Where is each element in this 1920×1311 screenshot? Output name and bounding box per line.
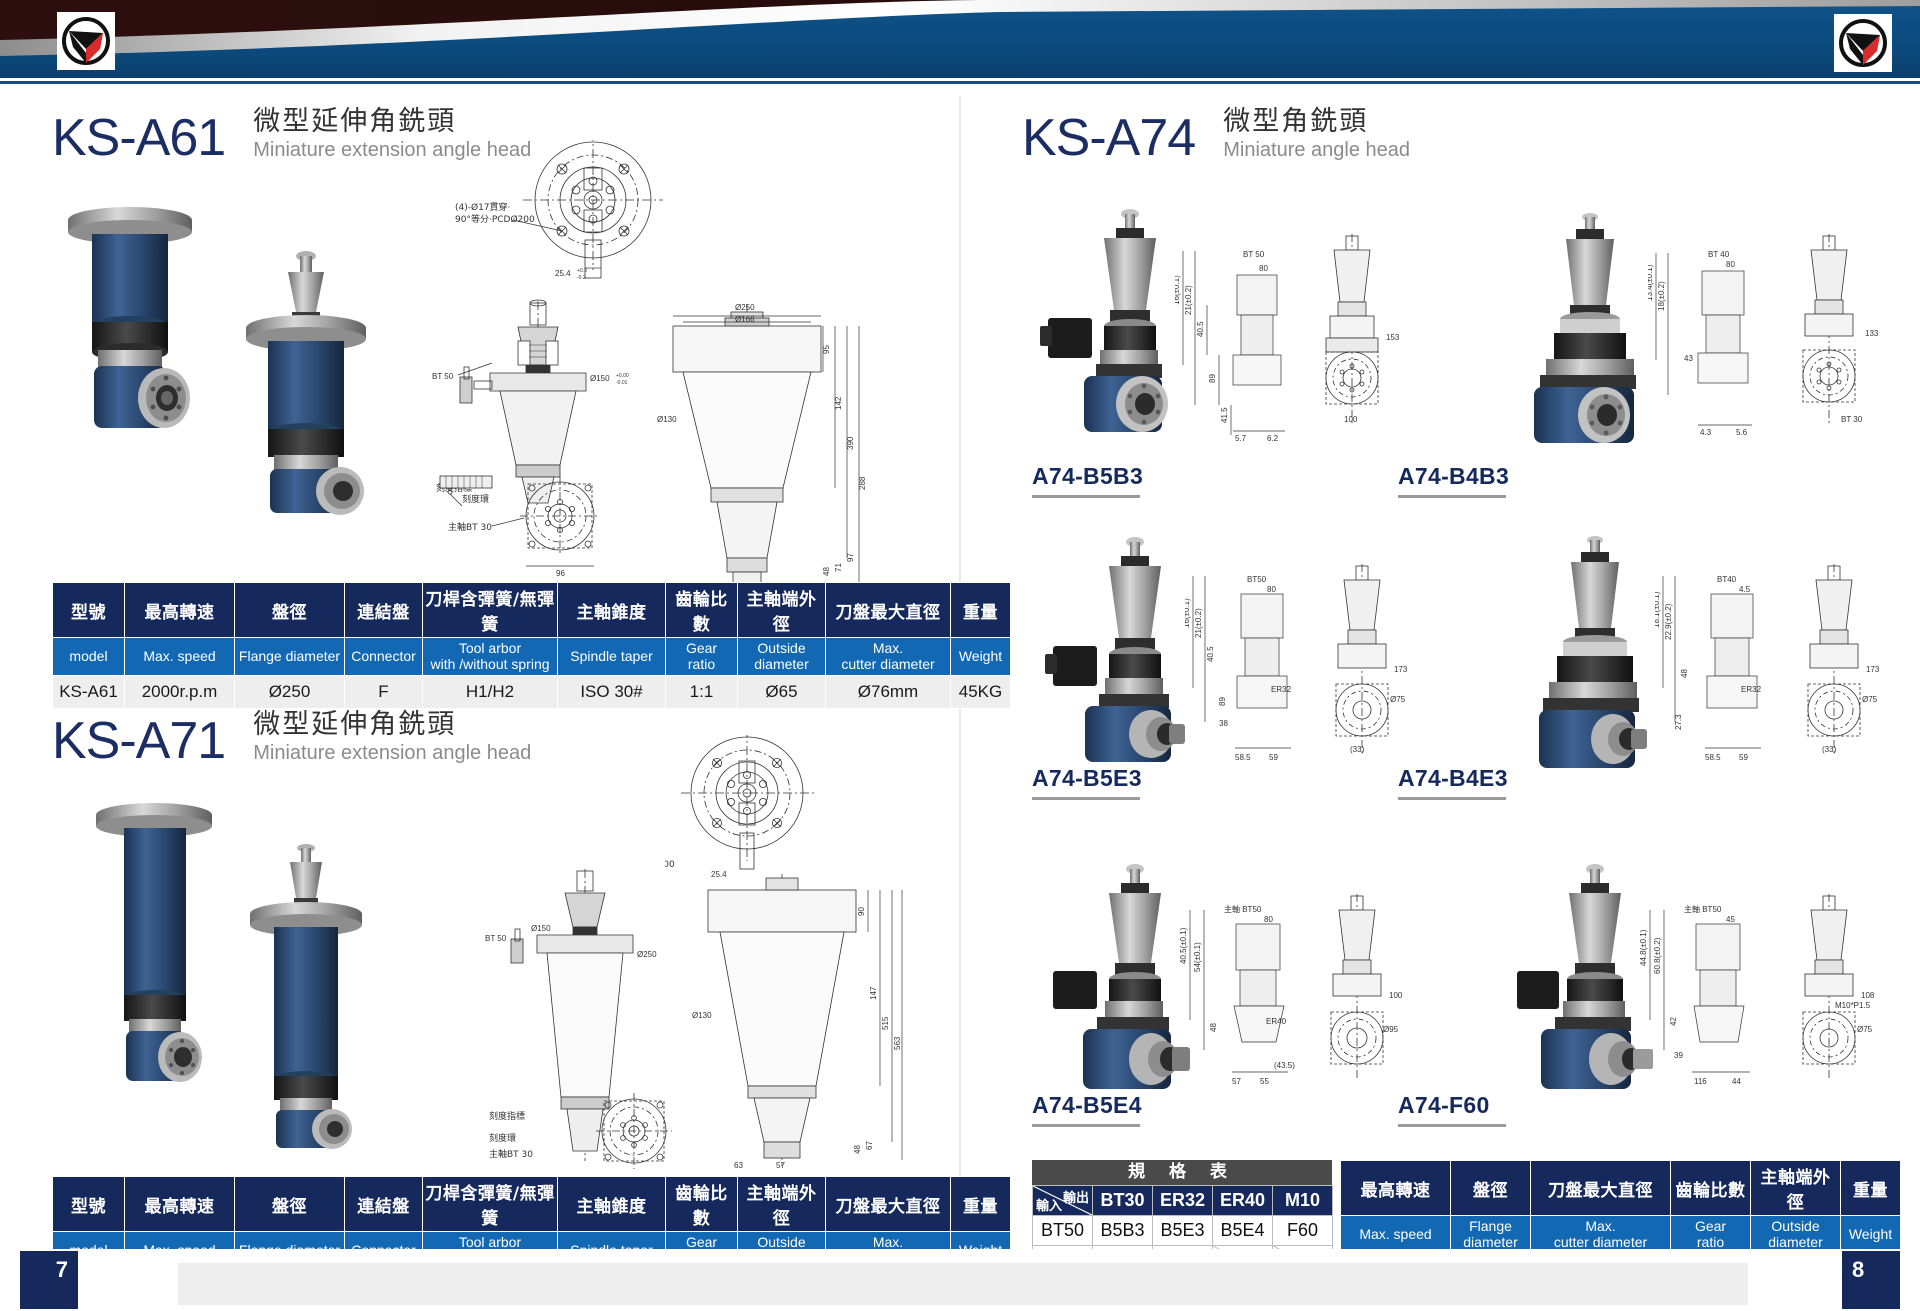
table-row: KS-A612000r.p.mØ250FH1/H2ISO 30#1:1Ø65Ø7… — [53, 676, 1011, 709]
svg-text:Ø250: Ø250 — [637, 950, 657, 959]
svg-text:Ø95: Ø95 — [1383, 1025, 1399, 1034]
svg-text:40.5: 40.5 — [1206, 646, 1215, 662]
svg-text:48: 48 — [1209, 1023, 1218, 1032]
col-header-cn-8: 刀盤最大直徑 — [826, 583, 951, 638]
cell-0: KS-A61 — [53, 676, 125, 709]
matrix-header-row: 輸入輸出BT30ER32ER40M10 — [1033, 1186, 1333, 1216]
matrix-caption: 規 格 表 — [1032, 1160, 1332, 1185]
technical-drawing-a74-b5e4-side: 100 Ø95 — [1305, 890, 1410, 1085]
cell-7: Ø65 — [738, 676, 826, 709]
col-header-cn-7: 主軸端外徑 — [738, 583, 826, 638]
svg-text:刻度環: 刻度環 — [462, 493, 489, 505]
table-body: KS-A612000r.p.mØ250FH1/H2ISO 30#1:1Ø65Ø7… — [53, 676, 1011, 709]
col-header-cn-8: 刀盤最大直徑 — [826, 1177, 951, 1232]
technical-drawing-a74-b5e3-dims: BT50 80 16(±0.1) 21(±0.2) 40.5 89 ER32 5… — [1185, 570, 1300, 765]
variant-label-a74-b5b3: A74-B5B3 — [1032, 463, 1143, 498]
cell-8: Ø76mm — [826, 676, 951, 709]
svg-text:BT 50: BT 50 — [432, 372, 454, 381]
col-header-cn-3: 齒輪比數 — [1671, 1161, 1751, 1216]
technical-drawing-a74-f60-side: M10*P1.5 Ø75 108 — [1775, 890, 1885, 1085]
svg-text:刻度環: 刻度環 — [489, 1132, 516, 1144]
svg-text:80: 80 — [1264, 915, 1273, 924]
title-chinese: 微型延伸角銑頭 — [253, 710, 531, 740]
svg-text:116: 116 — [1694, 1077, 1707, 1086]
svg-text:41.5: 41.5 — [1220, 407, 1229, 423]
svg-text:5.7: 5.7 — [1235, 434, 1247, 443]
technical-drawing-a74-b5b3-dims: BT 50 80 16(±0.1) 21(±0.2) 40.5 89 41.5 … — [1175, 245, 1295, 445]
matrix-col-header-2: ER40 — [1213, 1186, 1273, 1216]
matrix-col-header-0: BT30 — [1093, 1186, 1153, 1216]
product-photo-ks-a61-side — [218, 238, 403, 523]
svg-text:BT40: BT40 — [1717, 575, 1737, 584]
technical-drawing-a74-b4b3-side: 133 BT 30 — [1775, 230, 1885, 430]
matrix-row-label: BT50 — [1033, 1216, 1093, 1246]
svg-text:主軸BT 30: 主軸BT 30 — [489, 1148, 533, 1160]
technical-drawing-ks-a61-elevation: Ø250 Ø166 Ø130 95 142 390 288 63 57 48 7… — [655, 300, 870, 600]
table-header-row-en: Max. speedFlangediameterMax.cutter diame… — [1341, 1216, 1901, 1254]
svg-text:BT 40: BT 40 — [1708, 250, 1730, 259]
model-code: KS-A61 — [52, 112, 225, 164]
svg-text:BT 50: BT 50 — [485, 934, 507, 943]
svg-text:90: 90 — [857, 907, 866, 916]
svg-text:40.5: 40.5 — [1196, 321, 1205, 337]
svg-text:48: 48 — [853, 1145, 862, 1154]
svg-text:Ø130: Ø130 — [657, 415, 677, 424]
product-photo-ks-a71-front — [76, 795, 236, 1130]
header-banner — [0, 0, 1920, 84]
svg-text:Ø250: Ø250 — [735, 303, 755, 312]
svg-text:(33): (33) — [1822, 745, 1837, 754]
svg-text:58.5: 58.5 — [1235, 753, 1251, 762]
product-photo-a74-b4e3 — [1495, 528, 1675, 783]
svg-text:Ø150: Ø150 — [531, 924, 551, 933]
col-header-cn-0: 型號 — [53, 1177, 125, 1232]
svg-text:BT 30: BT 30 — [1841, 415, 1863, 424]
col-header-en-5: Spindle taper — [558, 638, 666, 676]
col-header-en-5: Weight — [1841, 1216, 1901, 1254]
col-header-cn-1: 最高轉速 — [125, 583, 235, 638]
svg-text:390: 390 — [846, 436, 855, 450]
model-code: KS-A71 — [52, 715, 225, 767]
cell-6: 1:1 — [666, 676, 738, 709]
svg-text:133: 133 — [1865, 329, 1879, 338]
technical-drawing-ks-a61-top-view: (4)-Ø17貫穿‧ 90°等分‧PCDØ200 25.4 +0.3 -0.2 — [455, 140, 685, 285]
technical-drawing-a74-b4e3-side: 173 Ø75 (33) — [1782, 560, 1887, 760]
variant-name: A74-B4E3 — [1398, 765, 1508, 796]
svg-text:54(±0.1): 54(±0.1) — [1193, 942, 1202, 972]
col-header-cn-4: 主軸端外徑 — [1751, 1161, 1841, 1216]
footer-bar — [178, 1263, 1748, 1305]
col-header-en-3: Gearratio — [1671, 1216, 1751, 1254]
col-header-en-4: Tool arborwith /without spring — [423, 638, 558, 676]
col-header-en-4: Outsidediameter — [1751, 1216, 1841, 1254]
matrix-col-header-3: M10 — [1273, 1186, 1333, 1216]
svg-text:M10*P1.5: M10*P1.5 — [1835, 1001, 1871, 1010]
svg-text:89: 89 — [1208, 374, 1217, 383]
svg-text:67: 67 — [865, 1141, 874, 1150]
variant-name: A74-B5E3 — [1032, 765, 1142, 796]
svg-text:-0.2: -0.2 — [577, 275, 586, 281]
svg-text:153: 153 — [1386, 333, 1400, 342]
spec-table-ks-a61: 型號最高轉速盤徑連結盤刀桿含彈簧/無彈簧主軸錐度齒輪比數主軸端外徑刀盤最大直徑重… — [52, 582, 1011, 709]
svg-text:22.9(±0.2): 22.9(±0.2) — [1664, 603, 1673, 640]
svg-text:18(±0.2): 18(±0.2) — [1657, 281, 1666, 311]
cell-5: ISO 30# — [558, 676, 666, 709]
section-title-ks-a71: KS-A71 微型延伸角銑頭 Miniature extension angle… — [52, 710, 531, 767]
cell-3: F — [345, 676, 423, 709]
title-chinese: 微型延伸角銑頭 — [253, 107, 531, 137]
col-header-en-6: Gearratio — [666, 638, 738, 676]
svg-text:147: 147 — [869, 986, 878, 1000]
svg-text:45: 45 — [1726, 915, 1735, 924]
svg-text:BT 50: BT 50 — [1243, 250, 1265, 259]
col-header-cn-9: 重量 — [951, 1177, 1011, 1232]
svg-text:48: 48 — [822, 567, 831, 576]
svg-text:-0.01: -0.01 — [616, 380, 628, 386]
svg-text:38: 38 — [1219, 719, 1228, 728]
col-header-cn-4: 刀桿含彈簧/無彈簧 — [423, 1177, 558, 1232]
product-photo-a74-b4b3 — [1492, 205, 1667, 455]
svg-text:Ø75: Ø75 — [1390, 695, 1406, 704]
matrix-cell-1: B5E3 — [1153, 1216, 1213, 1246]
svg-text:80: 80 — [1267, 585, 1276, 594]
col-header-cn-1: 最高轉速 — [125, 1177, 235, 1232]
product-photo-ks-a61-front — [48, 198, 228, 503]
svg-text:ER32: ER32 — [1741, 685, 1762, 694]
svg-text:288: 288 — [858, 476, 867, 490]
svg-text:25.4: 25.4 — [555, 269, 571, 278]
col-header-en-0: Max. speed — [1341, 1216, 1451, 1254]
variant-label-a74-f60: A74-F60 — [1398, 1092, 1506, 1127]
svg-text:6.2: 6.2 — [1267, 434, 1279, 443]
svg-text:ER40: ER40 — [1266, 1017, 1287, 1026]
svg-text:96: 96 — [556, 569, 565, 578]
technical-drawing-a74-b4b3-dims: BT 40 80 13.4(±0.1) 18(±0.2) 43 4.3 5.6 — [1648, 245, 1763, 440]
col-header-en-8: Max.cutter diameter — [826, 638, 951, 676]
svg-text:59: 59 — [1269, 753, 1278, 762]
cell-1: 2000r.p.m — [125, 676, 235, 709]
page-number-left: 7 — [20, 1251, 78, 1309]
col-header-en-1: Flangediameter — [1451, 1216, 1531, 1254]
product-photo-ks-a71-side — [222, 830, 397, 1155]
title-chinese: 微型角銑頭 — [1223, 107, 1410, 137]
svg-text:16(±0.1): 16(±0.1) — [1175, 275, 1181, 305]
svg-text:Ø75: Ø75 — [1862, 695, 1878, 704]
col-header-cn-2: 盤徑 — [235, 583, 345, 638]
svg-text:21(±0.2): 21(±0.2) — [1194, 608, 1203, 638]
svg-text:48: 48 — [1680, 669, 1689, 678]
technical-drawing-a74-f60-dims: 主軸 BT50 45 44.8(±0.1) 60.8(±0.2) 42 116 … — [1640, 900, 1765, 1090]
table-header-row-cn: 型號最高轉速盤徑連結盤刀桿含彈簧/無彈簧主軸錐度齒輪比數主軸端外徑刀盤最大直徑重… — [53, 1177, 1011, 1232]
section-title-ks-a74: KS-A74 微型角銑頭 Miniature angle head — [1022, 107, 1410, 164]
variant-name: A74-B4B3 — [1398, 463, 1509, 494]
svg-text:(33): (33) — [1350, 745, 1365, 754]
svg-text:43: 43 — [1684, 354, 1693, 363]
svg-text:Ø130: Ø130 — [692, 1011, 712, 1020]
col-header-cn-2: 刀盤最大直徑 — [1531, 1161, 1671, 1216]
svg-text:80: 80 — [1259, 264, 1268, 273]
variant-name: A74-B5B3 — [1032, 463, 1143, 494]
col-header-en-0: model — [53, 638, 125, 676]
title-english: Miniature angle head — [1223, 138, 1410, 162]
variant-label-a74-b5e3: A74-B5E3 — [1032, 765, 1142, 800]
col-header-cn-5: 主軸錐度 — [558, 1177, 666, 1232]
variant-label-a74-b4b3: A74-B4B3 — [1398, 463, 1509, 498]
technical-drawing-a74-b5b3-side: 153 100 — [1300, 230, 1405, 430]
svg-text:563: 563 — [893, 1036, 902, 1050]
svg-text:63: 63 — [734, 1161, 743, 1170]
col-header-cn-6: 齒輪比數 — [666, 583, 738, 638]
svg-text:4.3: 4.3 — [1700, 428, 1712, 437]
svg-text:95: 95 — [822, 345, 831, 354]
catalog-spread: KS-A61 微型延伸角銑頭 Miniature extension angle… — [0, 0, 1920, 1311]
company-logo — [1834, 14, 1892, 72]
col-header-cn-6: 齒輪比數 — [666, 1177, 738, 1232]
col-header-en-9: Weight — [951, 638, 1011, 676]
technical-drawing-ks-a71-top-view: (4)-Ø17貫穿‧ 90°等分‧PCDØ200 25.4 — [665, 735, 830, 880]
matrix-cell-2: B5E4 — [1213, 1216, 1273, 1246]
svg-text:57: 57 — [1232, 1077, 1241, 1086]
variant-label-a74-b4e3: A74-B4E3 — [1398, 765, 1508, 800]
matrix-axis-input: 輸入 — [1036, 1195, 1062, 1214]
svg-text:主軸BT 30: 主軸BT 30 — [448, 521, 492, 533]
svg-text:Ø75: Ø75 — [1857, 1025, 1873, 1034]
svg-text:BT50: BT50 — [1247, 575, 1267, 584]
model-code: KS-A74 — [1022, 112, 1195, 164]
svg-text:5.6: 5.6 — [1736, 428, 1748, 437]
svg-text:60.8(±0.2): 60.8(±0.2) — [1653, 937, 1662, 974]
title-english: Miniature extension angle head — [253, 741, 531, 765]
svg-text:Ø166: Ø166 — [735, 315, 755, 324]
svg-text:44.8(±0.1): 44.8(±0.1) — [1640, 929, 1648, 966]
svg-text:42: 42 — [1669, 1017, 1678, 1026]
col-header-cn-2: 盤徑 — [235, 1177, 345, 1232]
col-header-en-7: Outsidediameter — [738, 638, 826, 676]
technical-drawing-ks-a71-elevation: Ø130 90 147 515 563 63 57 48 67 — [690, 870, 905, 1170]
col-header-cn-1: 盤徑 — [1451, 1161, 1531, 1216]
matrix-axis-output: 輸出 — [1063, 1187, 1089, 1206]
cell-9: 45KG — [951, 676, 1011, 709]
svg-text:173: 173 — [1394, 665, 1408, 674]
svg-text:142: 142 — [834, 396, 843, 410]
table-header-row-cn: 最高轉速盤徑刀盤最大直徑齒輪比數主軸端外徑重量 — [1341, 1161, 1901, 1216]
matrix-row: BT50B5B3B5E3B5E4F60 — [1033, 1216, 1333, 1246]
svg-text:57: 57 — [776, 1161, 785, 1170]
svg-text:16(±0.1): 16(±0.1) — [1185, 598, 1191, 628]
svg-text:+0.00: +0.00 — [616, 373, 629, 379]
svg-text:39: 39 — [1674, 1051, 1683, 1060]
matrix-col-header-1: ER32 — [1153, 1186, 1213, 1216]
svg-text:主軸 BT50: 主軸 BT50 — [1684, 904, 1722, 914]
svg-text:ER32: ER32 — [1271, 685, 1292, 694]
svg-text:4.5: 4.5 — [1739, 585, 1751, 594]
col-header-cn-5: 主軸錐度 — [558, 583, 666, 638]
svg-text:40.5(±0.1): 40.5(±0.1) — [1180, 927, 1188, 964]
technical-drawing-a74-b5e4-dims: 主軸 BT50 80 40.5(±0.1) 54(±0.1) 48 ER40 5… — [1180, 900, 1300, 1090]
svg-text:21(±0.2): 21(±0.2) — [1184, 285, 1193, 315]
variant-name: A74-B5E4 — [1032, 1092, 1142, 1123]
variant-label-a74-b5e4: A74-B5E4 — [1032, 1092, 1142, 1127]
cell-2: Ø250 — [235, 676, 345, 709]
technical-drawing-a74-b5e3-side: 173 Ø75 (33) — [1310, 560, 1415, 760]
footer — [0, 1249, 1920, 1311]
svg-text:Ø150: Ø150 — [590, 374, 610, 383]
svg-text:44: 44 — [1732, 1077, 1741, 1086]
page-number-right: 8 — [1842, 1251, 1900, 1309]
svg-text:刻度指標: 刻度指標 — [489, 1110, 525, 1122]
svg-text:55: 55 — [1260, 1077, 1269, 1086]
col-header-cn-0: 型號 — [53, 583, 125, 638]
col-header-cn-0: 最高轉速 — [1341, 1161, 1451, 1216]
svg-text:90°等分‧PCDØ200: 90°等分‧PCDØ200 — [455, 213, 535, 225]
technical-drawing-a74-b4e3-dims: BT40 4.5 18.1(±0.1) 22.9(±0.2) 48 ER32 5… — [1655, 570, 1770, 765]
svg-text:59: 59 — [1739, 753, 1748, 762]
svg-text:主軸 BT50: 主軸 BT50 — [1224, 904, 1262, 914]
svg-text:100: 100 — [1389, 991, 1403, 1000]
svg-text:173: 173 — [1866, 665, 1880, 674]
col-header-en-2: Max.cutter diameter — [1531, 1216, 1671, 1254]
svg-text:108: 108 — [1861, 991, 1875, 1000]
table-header-row-cn: 型號最高轉速盤徑連結盤刀桿含彈簧/無彈簧主軸錐度齒輪比數主軸端外徑刀盤最大直徑重… — [53, 583, 1011, 638]
svg-text:100: 100 — [1344, 415, 1358, 424]
col-header-cn-7: 主軸端外徑 — [738, 1177, 826, 1232]
table-header-row-en: modelMax. speedFlange diameterConnectorT… — [53, 638, 1011, 676]
matrix-cell-3: F60 — [1273, 1216, 1333, 1246]
matrix-cell-0: B5B3 — [1093, 1216, 1153, 1246]
svg-text:97: 97 — [846, 553, 855, 562]
col-header-cn-9: 重量 — [951, 583, 1011, 638]
svg-text:27.3: 27.3 — [1674, 714, 1683, 730]
svg-text:80: 80 — [1726, 260, 1735, 269]
variant-name: A74-F60 — [1398, 1092, 1490, 1123]
col-header-en-1: Max. speed — [125, 638, 235, 676]
col-header-cn-3: 連結盤 — [345, 1177, 423, 1232]
svg-text:89: 89 — [1218, 697, 1227, 706]
svg-text:58.5: 58.5 — [1705, 753, 1721, 762]
technical-drawing-ks-a71-detail: 96 — [560, 1085, 710, 1190]
cell-4: H1/H2 — [423, 676, 558, 709]
col-header-cn-3: 連結盤 — [345, 583, 423, 638]
col-header-cn-5: 重量 — [1841, 1161, 1901, 1216]
svg-text:13.4(±0.1): 13.4(±0.1) — [1648, 264, 1654, 301]
svg-text:(4)-Ø17貫穿‧: (4)-Ø17貫穿‧ — [455, 201, 510, 213]
matrix-corner-cell: 輸入輸出 — [1033, 1186, 1093, 1216]
svg-text:+0.3: +0.3 — [577, 268, 587, 274]
svg-text:18.1(±0.1): 18.1(±0.1) — [1655, 591, 1661, 628]
svg-text:71: 71 — [834, 563, 843, 572]
company-logo — [57, 12, 115, 70]
svg-text:515: 515 — [881, 1016, 890, 1030]
svg-text:(43.5): (43.5) — [1274, 1061, 1295, 1070]
col-header-en-2: Flange diameter — [235, 638, 345, 676]
col-header-cn-4: 刀桿含彈簧/無彈簧 — [423, 583, 558, 638]
technical-drawing-ks-a61-detail: 刻度環 主軸BT 30 96 — [420, 470, 650, 590]
col-header-en-3: Connector — [345, 638, 423, 676]
